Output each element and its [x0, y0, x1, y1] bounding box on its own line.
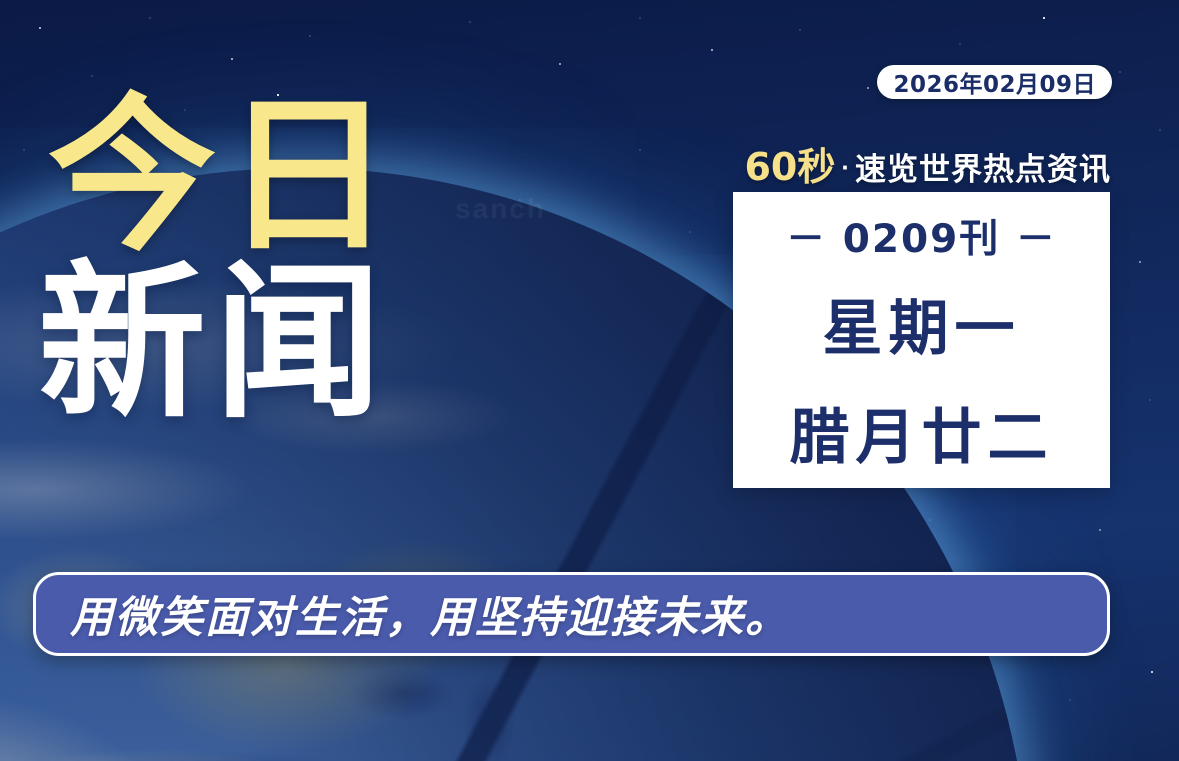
tagline: 60秒 · 速览世界热点资讯: [744, 136, 1111, 191]
issue-number-label: － 0209刊 －: [786, 208, 1057, 264]
masthead-line-news: 新闻: [38, 263, 508, 424]
date-badge-label: 2026年02月09日: [893, 65, 1096, 99]
tagline-separator-dot: ·: [841, 152, 850, 183]
date-badge: 2026年02月09日: [877, 65, 1112, 99]
masthead-line-today: 今日: [48, 96, 508, 257]
masthead: 今日 新闻: [48, 96, 508, 425]
issue-info-card: － 0209刊 － 星期一 腊月廿二: [733, 192, 1110, 488]
weekday-label: 星期一: [823, 280, 1021, 367]
quote-banner: 用微笑面对生活，用坚持迎接未来。: [33, 572, 1110, 656]
news-poster: sanch 今日 新闻 2026年02月09日 60秒 · 速览世界热点资讯 －…: [0, 0, 1179, 761]
tagline-description: 速览世界热点资讯: [855, 144, 1111, 189]
quote-text: 用微笑面对生活，用坚持迎接未来。: [70, 583, 790, 645]
tagline-seconds: 60秒: [744, 136, 835, 191]
lunar-date-label: 腊月廿二: [790, 389, 1054, 476]
